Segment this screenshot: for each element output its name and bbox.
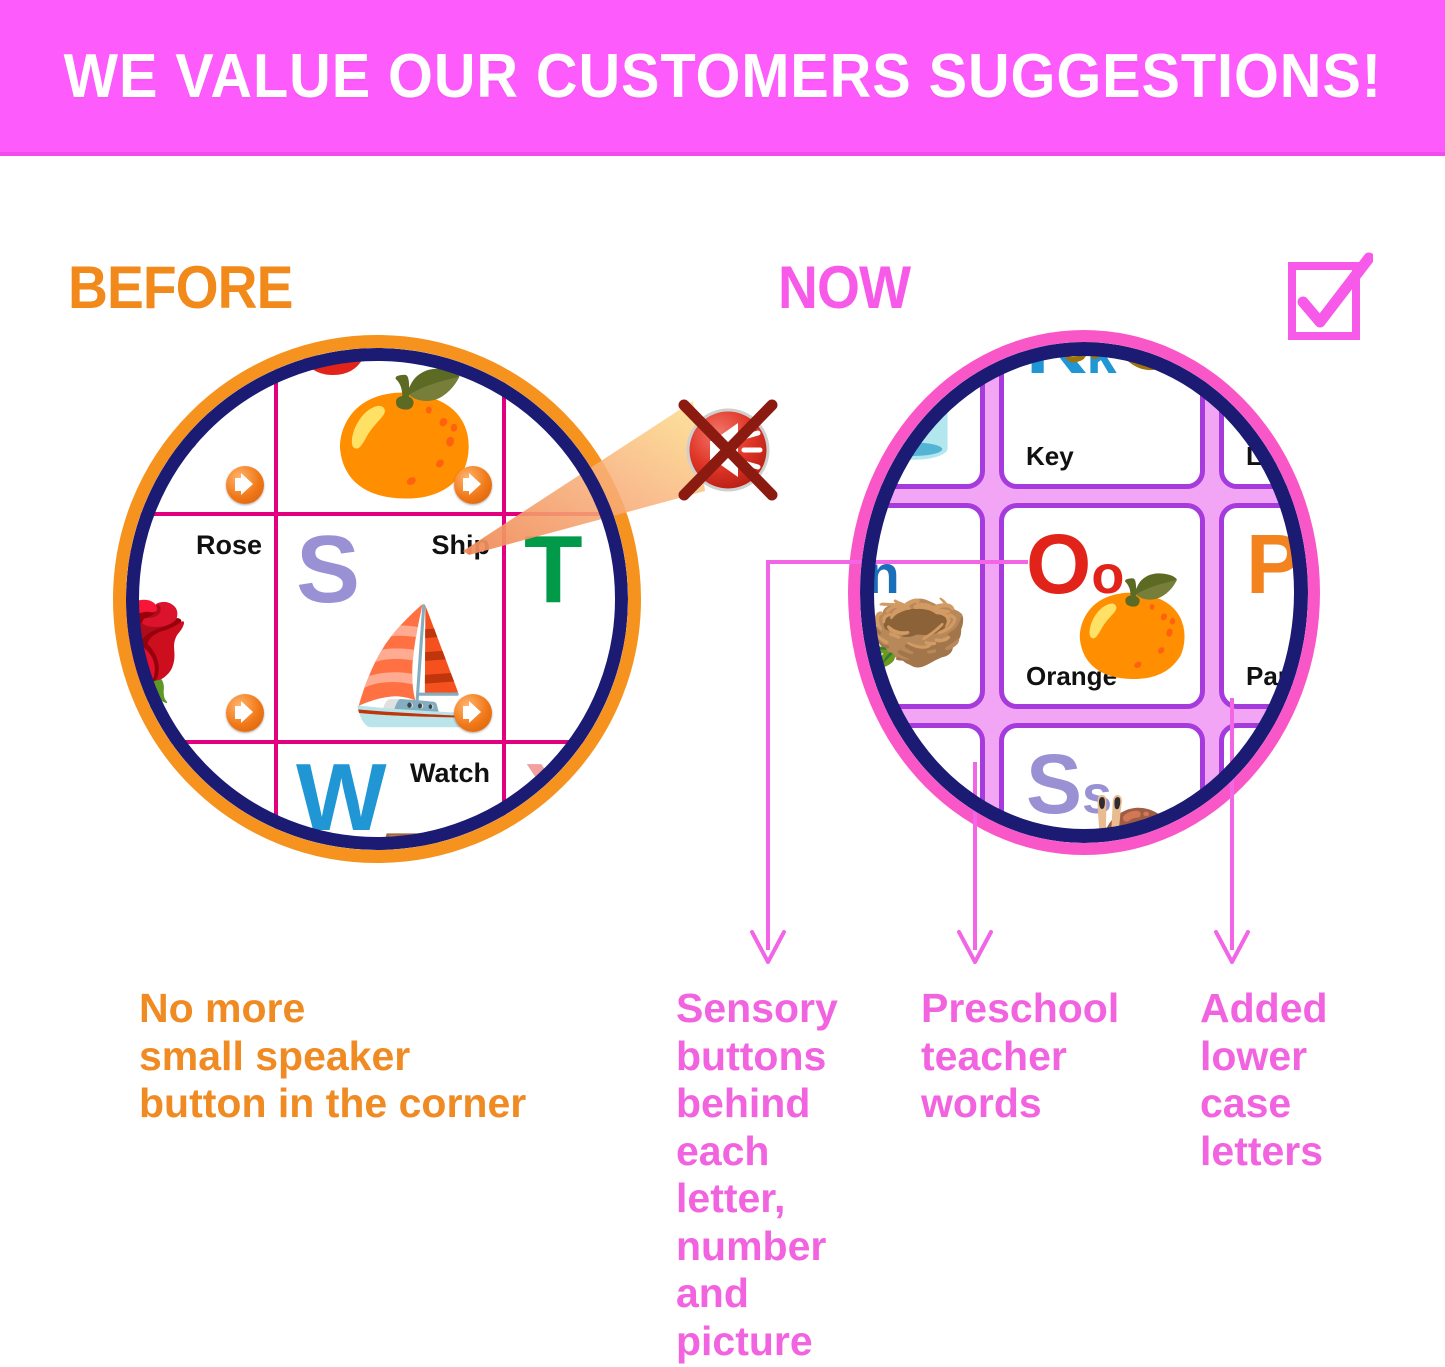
muted-speaker-icon [672,395,784,505]
now-cell[interactable]: Ss Snail 🐌 [999,723,1205,855]
now-alphabet-grid: Jj Jar 🫙 Kk Key 🔑 Ll Lion 🦁 Nn Nest 🪹 [848,330,1320,855]
checked-box-icon [1287,252,1373,344]
now-letters: Pp [1246,522,1320,606]
now-uppercase: S [1026,737,1082,831]
jar-picture: 🫙 [861,370,968,456]
now-label: NOW [778,253,910,322]
now-cell[interactable]: Tt Tiger 🐅 [1219,723,1320,855]
before-cell[interactable]: W Watch ⌚ [276,742,504,863]
before-word: Watch [410,758,490,789]
before-cell[interactable]: R Rose 🌹 [113,514,276,742]
now-cell[interactable]: Ll Lion 🦁 [1219,330,1320,489]
now-cell[interactable]: Pp Parrot 🦜 [1219,503,1320,709]
now-cell-wrap: Tt Tiger 🐅 [1212,716,1320,855]
snail-picture: 🐌 [1077,798,1192,855]
speaker-button[interactable] [226,694,264,732]
speaker-button[interactable] [454,466,492,504]
now-lowercase: t [1297,765,1315,825]
now-cell-wrap: Ll Lion 🦁 [1212,330,1320,496]
now-caption-teacher-words: Preschool teacher words [921,985,1156,1128]
rose-picture: 🌹 [113,606,208,712]
now-cell-wrap: Ss Snail 🐌 [992,716,1212,855]
rose-picture: 🌹 [860,808,970,855]
parrot-picture: 🦜 [597,372,641,472]
now-letters: Tt [1246,742,1315,826]
now-cell-wrap: Pp Parrot 🦜 [1212,496,1320,716]
now-device-closeup: Jj Jar 🫙 Kk Key 🔑 Ll Lion 🦁 Nn Nest 🪹 [848,330,1320,855]
now-cell-wrap: Kk Key 🔑 [992,330,1212,496]
tiger-picture: 🐅 [1308,802,1320,855]
before-cell[interactable]: S Ship ⛵ [276,514,504,742]
now-cell[interactable]: Rr Rose 🌹 [848,723,985,855]
speaker-button[interactable] [226,466,264,504]
speaker-button[interactable] [454,694,492,732]
nest-picture: 🪹 [863,590,970,676]
lion-picture: 🦁 [1303,372,1320,458]
before-cell[interactable]: P 🦜 [504,335,641,514]
before-letter: V [113,750,132,846]
before-cell[interactable]: O Orange 🍊 [276,335,504,514]
now-uppercase: P [1246,517,1302,611]
now-uppercase: J [848,330,853,391]
before-word: Ship [432,530,491,561]
before-word: Rose [196,530,262,561]
nest-picture: 🪹 [113,368,218,476]
now-caption-lowercase: Added lower case letters [1200,985,1400,1175]
now-word: Lion [1246,441,1301,472]
now-word: Key [1026,441,1074,472]
now-uppercase: T [1246,737,1297,831]
watch-picture: ⌚ [347,838,477,863]
before-caption: No more small speaker button in the corn… [139,985,526,1128]
orange-picture: 🍊 [1072,578,1192,674]
before-cell[interactable]: X [504,742,641,863]
before-label: BEFORE [68,253,293,322]
before-cell[interactable]: V [113,742,276,863]
now-cell-wrap: Rr Rose 🌹 [848,716,992,855]
header-banner: WE VALUE OUR CUSTOMERS SUGGESTIONS! [0,0,1445,156]
before-device-closeup: N Nest 🪹 O Orange 🍊 P 🦜 R Rose 🌹 S Ship … [113,335,641,863]
parrot-picture: 🦜 [1301,582,1320,674]
before-letter: X [524,750,588,846]
banner-title: WE VALUE OUR CUSTOMERS SUGGESTIONS! [63,41,1381,112]
before-letter: T [524,522,583,618]
now-word: Parrot [1246,661,1320,692]
now-cell-wrap: Jj Jar 🫙 [848,330,992,496]
now-word: Nest [848,661,862,692]
now-cell-wrap: Oo Orange 🍊 [992,496,1212,716]
now-cell[interactable]: Kk Key 🔑 [999,330,1205,489]
before-cell[interactable]: T 🐅 [504,514,641,742]
before-alphabet-grid: N Nest 🪹 O Orange 🍊 P 🦜 R Rose 🌹 S Ship … [113,335,641,863]
now-cell[interactable]: Jj Jar 🫙 [848,330,985,489]
tiger-picture: 🐅 [606,604,641,700]
now-cell[interactable]: Oo Orange 🍊 [999,503,1205,709]
before-letter: P [524,335,588,390]
now-cell[interactable]: Nn Nest 🪹 [848,503,985,709]
now-caption-sensory-buttons: Sensory buttons behind each letter, numb… [676,985,866,1365]
now-cell-wrap: Nn Nest 🪹 [848,496,992,716]
before-cell[interactable]: N Nest 🪹 [113,335,276,514]
